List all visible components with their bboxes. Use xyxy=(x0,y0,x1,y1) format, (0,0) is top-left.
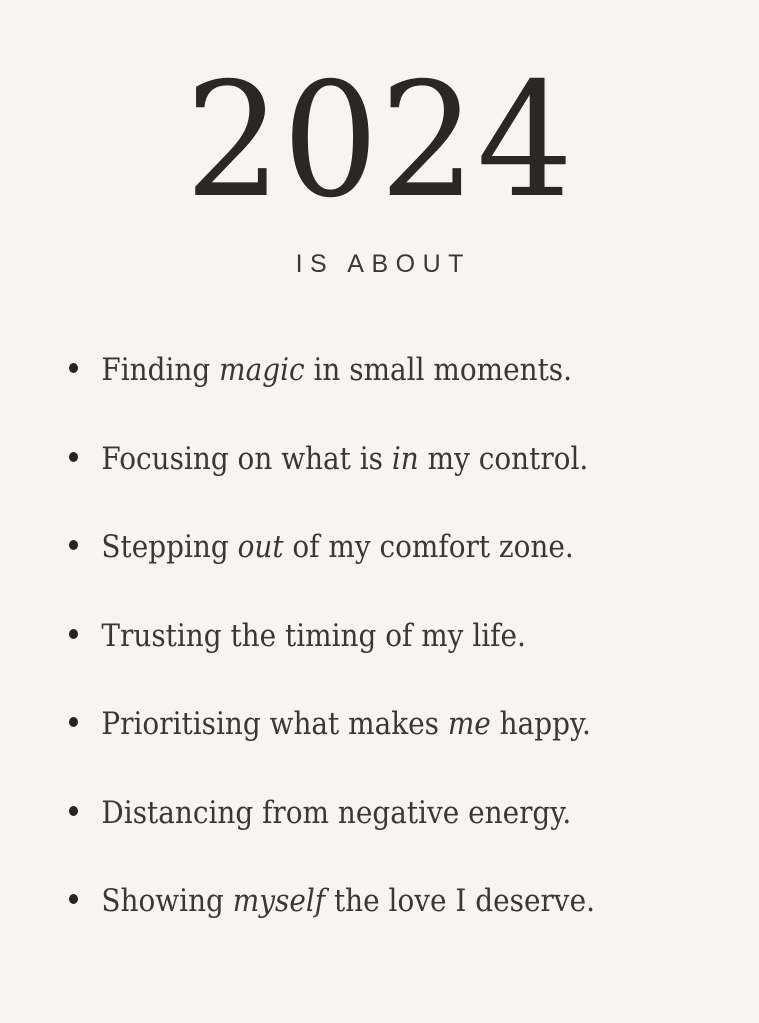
bullet-point-icon xyxy=(69,363,78,373)
list-item: Prioritising what makes me happy. xyxy=(60,701,672,790)
bullet-point-icon xyxy=(69,894,78,904)
list-item: Trusting the timing of my life. xyxy=(60,613,672,702)
plain-text: my control. xyxy=(419,441,588,477)
intentions-list: Finding magic in small moments.Focusing … xyxy=(60,347,740,967)
list-item-text: Trusting the timing of my life. xyxy=(101,613,525,659)
emphasis-word: myself xyxy=(233,883,325,919)
list-item: Stepping out of my comfort zone. xyxy=(60,524,672,613)
list-item-text: Distancing from negative energy. xyxy=(101,790,571,836)
list-item: Showing myself the love I deserve. xyxy=(60,878,672,967)
emphasis-word: me xyxy=(448,706,491,742)
page-subtitle: IS ABOUT xyxy=(0,250,759,279)
list-item: Distancing from negative energy. xyxy=(60,790,672,879)
plain-text: Distancing from negative energy. xyxy=(101,795,571,831)
emphasis-word: out xyxy=(238,529,284,565)
poster-canvas: 2024 IS ABOUT Finding magic in small mom… xyxy=(0,0,759,1023)
bullet-point-icon xyxy=(69,540,78,550)
plain-text: in small moments. xyxy=(305,352,572,388)
list-item-text: Prioritising what makes me happy. xyxy=(101,701,591,747)
list-item: Focusing on what is in my control. xyxy=(60,436,672,525)
bullet-point-icon xyxy=(69,717,78,727)
page-title-year: 2024 xyxy=(15,62,744,220)
list-item-text: Focusing on what is in my control. xyxy=(101,436,588,482)
bullet-point-icon xyxy=(69,452,78,462)
list-item-text: Showing myself the love I deserve. xyxy=(101,878,595,924)
plain-text: of my comfort zone. xyxy=(284,529,574,565)
plain-text: Stepping xyxy=(101,529,237,565)
plain-text: Prioritising what makes xyxy=(101,706,447,742)
emphasis-word: in xyxy=(392,441,419,477)
plain-text: happy. xyxy=(491,706,591,742)
bullet-point-icon xyxy=(69,629,78,639)
list-item-text: Finding magic in small moments. xyxy=(101,347,572,393)
plain-text: Finding xyxy=(101,352,219,388)
plain-text: Trusting the timing of my life. xyxy=(101,618,525,654)
heading-block: 2024 IS ABOUT xyxy=(0,62,759,279)
emphasis-word: magic xyxy=(219,352,304,388)
plain-text: the love I deserve. xyxy=(325,883,595,919)
plain-text: Focusing on what is xyxy=(101,441,391,477)
bullet-point-icon xyxy=(69,806,78,816)
plain-text: Showing xyxy=(101,883,232,919)
list-item: Finding magic in small moments. xyxy=(60,347,672,436)
list-item-text: Stepping out of my comfort zone. xyxy=(101,524,573,570)
